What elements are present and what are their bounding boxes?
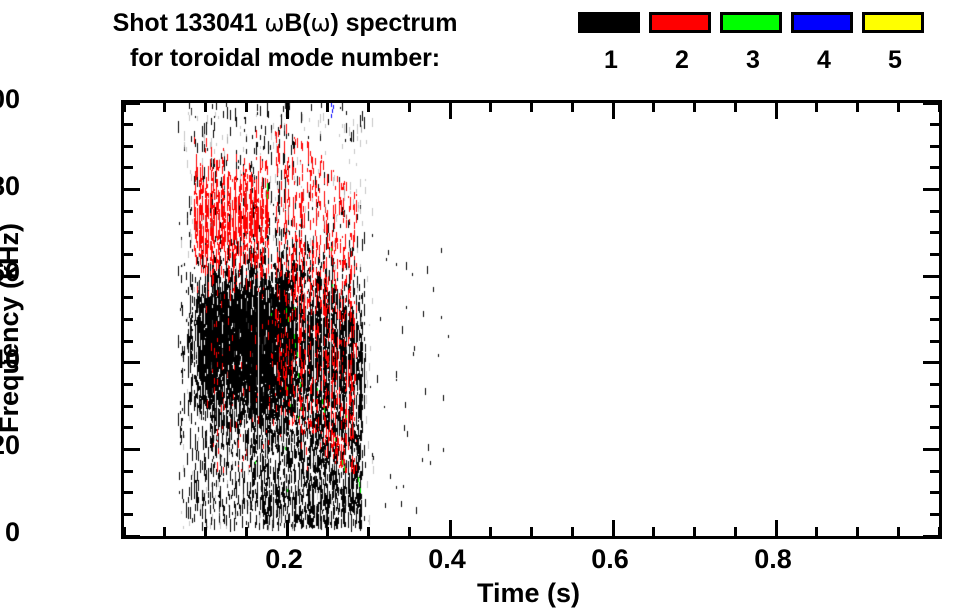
- legend-swatch-mode-5: [862, 12, 924, 33]
- y-tick-minor: [124, 426, 133, 429]
- chart-title-line-2: for toroidal mode number:: [0, 41, 570, 76]
- x-tick-major: [449, 520, 452, 536]
- y-tick-minor: [124, 253, 133, 256]
- y-tick-major-right: [923, 361, 939, 364]
- plot-area: [121, 100, 942, 539]
- x-tick-minor-top: [571, 103, 574, 112]
- y-tick-minor-right: [930, 145, 939, 148]
- legend-entry-mode-3: 3: [720, 12, 786, 76]
- x-tick-minor-top: [815, 103, 818, 112]
- x-tick-minor-top: [530, 103, 533, 112]
- y-tick-minor: [124, 491, 133, 494]
- y-tick-label: 20: [0, 432, 20, 459]
- y-tick-minor-right: [930, 123, 939, 126]
- x-tick-minor: [204, 527, 207, 536]
- x-tick-major-top: [612, 103, 615, 119]
- legend-entry-mode-5: 5: [862, 12, 928, 76]
- legend-label-mode-4: 4: [791, 44, 857, 76]
- chart-title-line-1: Shot 133041 ωB(ω) spectrum: [0, 6, 570, 41]
- x-tick-minor-top: [326, 103, 329, 112]
- legend-entry-mode-4: 4: [791, 12, 857, 76]
- y-tick-minor-right: [930, 166, 939, 169]
- y-tick-major: [124, 188, 140, 191]
- y-tick-label: 100: [0, 86, 20, 113]
- y-tick-minor-right: [930, 210, 939, 213]
- omega-symbol-1: ω: [264, 9, 284, 37]
- y-tick-minor: [124, 210, 133, 213]
- y-tick-label: 80: [0, 173, 20, 200]
- x-tick-minor: [571, 527, 574, 536]
- x-tick-minor-top: [489, 103, 492, 112]
- spectrum-scatter-canvas: [124, 103, 939, 536]
- y-tick-minor: [124, 231, 133, 234]
- legend-swatch-mode-3: [720, 12, 782, 33]
- x-axis-title: Time (s): [121, 580, 936, 607]
- x-tick-minor: [734, 527, 737, 536]
- y-tick-major: [124, 102, 140, 105]
- x-tick-minor: [123, 527, 126, 536]
- y-tick-label: 60: [0, 259, 20, 286]
- y-tick-minor: [124, 383, 133, 386]
- x-tick-minor-top: [652, 103, 655, 112]
- x-tick-minor-top: [693, 103, 696, 112]
- x-tick-major-top: [449, 103, 452, 119]
- legend-swatch-mode-4: [791, 12, 853, 33]
- x-tick-minor: [856, 527, 859, 536]
- x-tick-minor-top: [856, 103, 859, 112]
- y-tick-minor-right: [930, 491, 939, 494]
- x-tick-minor: [489, 527, 492, 536]
- legend-label-mode-5: 5: [862, 44, 928, 76]
- y-tick-minor-right: [930, 426, 939, 429]
- x-tick-label: 0.8: [728, 546, 818, 573]
- x-tick-minor-top: [734, 103, 737, 112]
- x-tick-minor: [938, 527, 941, 536]
- legend-entry-mode-2: 2: [649, 12, 715, 76]
- x-tick-minor: [367, 527, 370, 536]
- x-tick-minor: [326, 527, 329, 536]
- y-tick-minor: [124, 318, 133, 321]
- x-tick-minor: [163, 527, 166, 536]
- x-tick-label: 0.6: [565, 546, 655, 573]
- x-tick-label: 0.2: [239, 546, 329, 573]
- x-tick-minor-top: [408, 103, 411, 112]
- y-tick-minor-right: [930, 253, 939, 256]
- y-tick-minor: [124, 405, 133, 408]
- legend-swatch-mode-1: [578, 12, 640, 33]
- x-tick-minor: [408, 527, 411, 536]
- x-tick-minor: [693, 527, 696, 536]
- y-tick-minor-right: [930, 405, 939, 408]
- y-tick-minor-right: [930, 231, 939, 234]
- x-tick-label: 0.4: [402, 546, 492, 573]
- legend-swatch-mode-2: [649, 12, 711, 33]
- y-tick-major: [124, 361, 140, 364]
- x-tick-minor-top: [123, 103, 126, 112]
- legend-entry-mode-1: 1: [578, 12, 644, 76]
- x-tick-major-top: [286, 103, 289, 119]
- x-tick-minor: [897, 527, 900, 536]
- y-tick-minor: [124, 145, 133, 148]
- x-tick-minor-top: [163, 103, 166, 112]
- y-tick-major: [124, 535, 140, 538]
- y-tick-minor-right: [930, 318, 939, 321]
- y-tick-minor-right: [930, 340, 939, 343]
- x-tick-major: [286, 520, 289, 536]
- x-tick-minor-top: [938, 103, 941, 112]
- legend-label-mode-2: 2: [649, 44, 715, 76]
- y-tick-minor-right: [930, 513, 939, 516]
- y-tick-major-right: [923, 188, 939, 191]
- y-tick-minor-right: [930, 296, 939, 299]
- x-tick-minor: [815, 527, 818, 536]
- y-tick-major: [124, 275, 140, 278]
- y-tick-minor: [124, 123, 133, 126]
- x-tick-minor-top: [245, 103, 248, 112]
- y-tick-minor: [124, 340, 133, 343]
- legend-label-mode-1: 1: [578, 44, 644, 76]
- x-tick-minor: [245, 527, 248, 536]
- y-tick-minor-right: [930, 470, 939, 473]
- y-tick-minor: [124, 470, 133, 473]
- x-tick-major: [775, 520, 778, 536]
- x-tick-minor: [652, 527, 655, 536]
- x-tick-minor-top: [367, 103, 370, 112]
- y-tick-major-right: [923, 448, 939, 451]
- y-tick-minor: [124, 513, 133, 516]
- legend: 12345: [578, 12, 938, 90]
- x-tick-minor-top: [204, 103, 207, 112]
- y-tick-major-right: [923, 275, 939, 278]
- x-tick-major-top: [775, 103, 778, 119]
- x-tick-major: [612, 520, 615, 536]
- y-tick-major: [124, 448, 140, 451]
- y-tick-label: 40: [0, 346, 20, 373]
- chart-title: Shot 133041 ωB(ω) spectrum for toroidal …: [0, 6, 570, 76]
- y-tick-minor: [124, 296, 133, 299]
- x-tick-minor: [530, 527, 533, 536]
- y-tick-minor-right: [930, 383, 939, 386]
- y-tick-minor: [124, 166, 133, 169]
- x-tick-minor-top: [897, 103, 900, 112]
- omega-symbol-2: ω: [311, 9, 331, 37]
- y-tick-label: 0: [5, 519, 20, 546]
- legend-label-mode-3: 3: [720, 44, 786, 76]
